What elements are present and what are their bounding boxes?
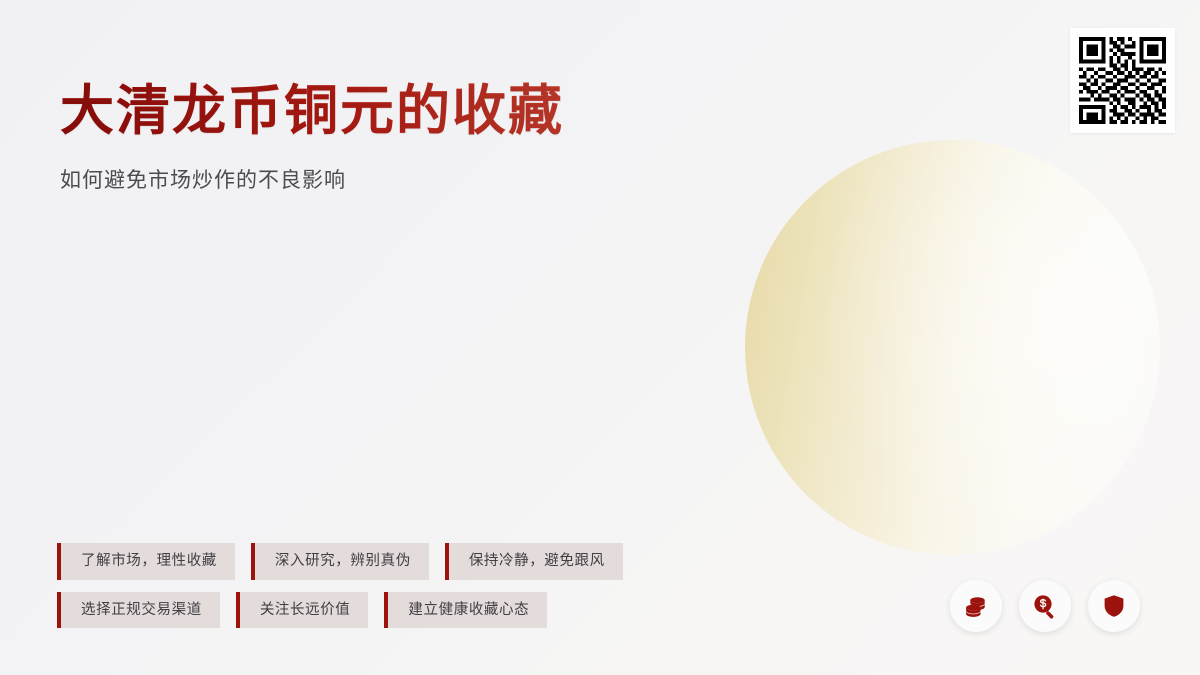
shield-icon (1101, 593, 1127, 619)
tag-row: 选择正规交易渠道 关注长远价值 建立健康收藏心态 (57, 592, 623, 629)
tag-item[interactable]: 深入研究，辨别真伪 (251, 543, 429, 580)
slide-canvas: 大清龙币铜元的收藏 如何避免市场炒作的不良影响 了解市场，理性收藏 深入研究，辨… (0, 0, 1200, 675)
qr-code[interactable] (1070, 28, 1175, 133)
icon-button-row (950, 580, 1140, 632)
shield-button[interactable] (1088, 580, 1140, 632)
coins-stack-icon (963, 593, 989, 619)
tag-row: 了解市场，理性收藏 深入研究，辨别真伪 保持冷静，避免跟风 (57, 543, 623, 580)
page-title: 大清龙币铜元的收藏 (60, 80, 564, 142)
tag-list: 了解市场，理性收藏 深入研究，辨别真伪 保持冷静，避免跟风 选择正规交易渠道 关… (57, 543, 623, 628)
title-block: 大清龙币铜元的收藏 如何避免市场炒作的不良影响 (60, 80, 564, 194)
page-subtitle: 如何避免市场炒作的不良影响 (60, 164, 564, 194)
tag-item[interactable]: 保持冷静，避免跟风 (445, 543, 623, 580)
dollar-magnifier-icon (1032, 593, 1058, 619)
tag-item[interactable]: 建立健康收藏心态 (384, 592, 547, 629)
qr-code-icon (1079, 37, 1166, 124)
dollar-magnifier-button[interactable] (1019, 580, 1071, 632)
tag-item[interactable]: 了解市场，理性收藏 (57, 543, 235, 580)
coins-stack-button[interactable] (950, 580, 1002, 632)
tag-item[interactable]: 选择正规交易渠道 (57, 592, 220, 629)
gold-circle-decoration (745, 140, 1160, 555)
tag-item[interactable]: 关注长远价值 (236, 592, 369, 629)
